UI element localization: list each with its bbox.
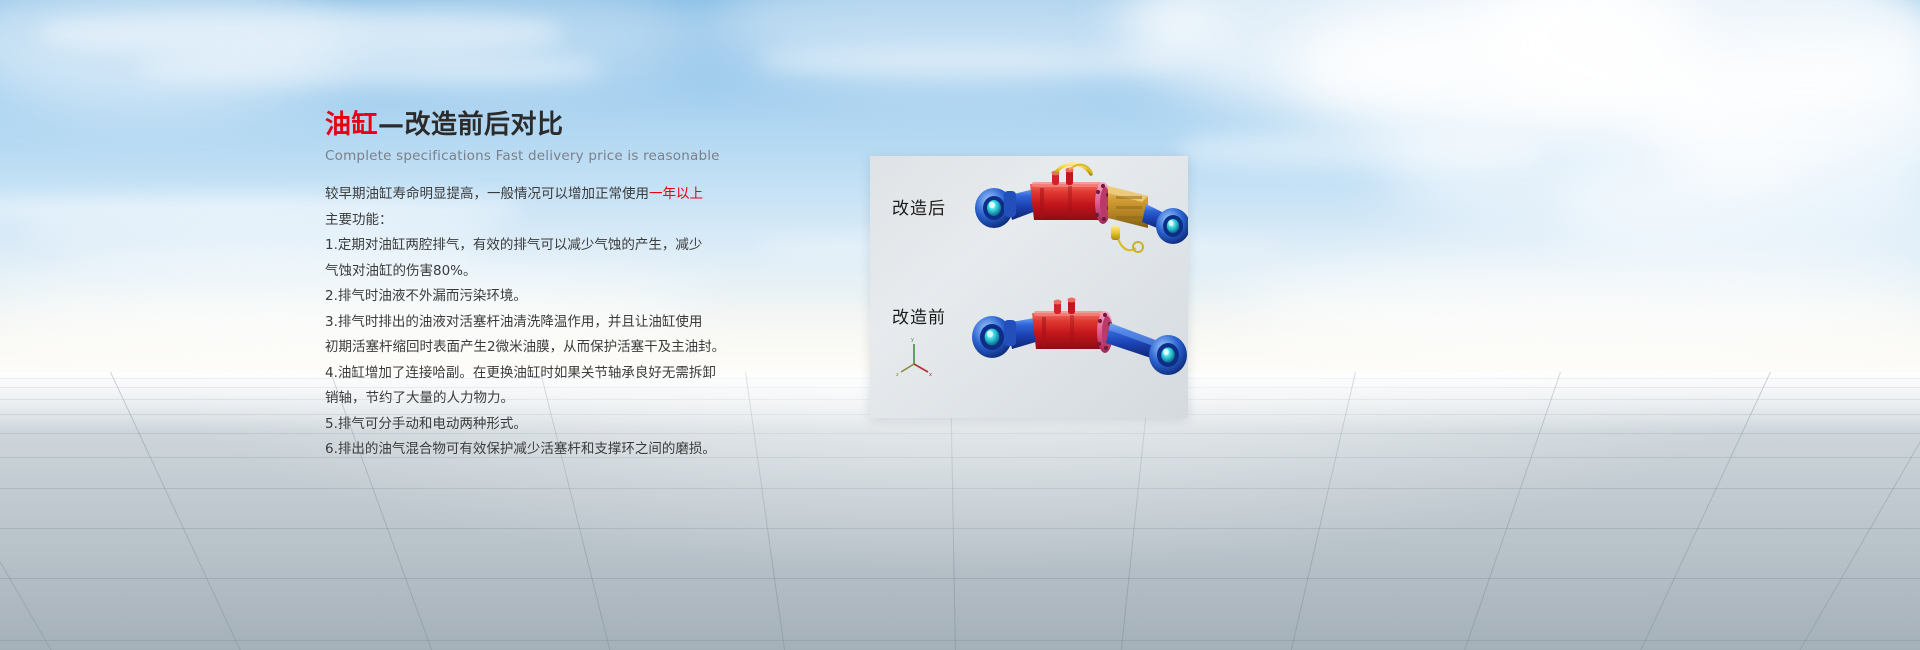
eye-housing-right-before bbox=[1149, 335, 1187, 375]
label-before-modification: 改造前 bbox=[892, 303, 946, 328]
description-line: 初期活塞杆缩回时表面产生2微米油膜，从而保护活塞干及主油封。 bbox=[325, 335, 755, 361]
label-after-modification: 改造后 bbox=[892, 194, 946, 219]
description-line: 较早期油缸寿命明显提高，一般情况可以增加正常使用一年以上 bbox=[325, 182, 755, 208]
cylinder-after bbox=[975, 164, 1188, 252]
description-text: 3.排气时排出的油液对活塞杆油清洗降温作用，并且让油缸使用 bbox=[325, 314, 702, 330]
cylinder-before bbox=[972, 298, 1187, 375]
hero-banner: 油缸—改造前后对比 Complete specifications Fast d… bbox=[0, 0, 1920, 650]
description-text: 6.排出的油气混合物可有效保护减少活塞杆和支撑环之间的磨损。 bbox=[325, 441, 716, 457]
page-title-accent: 油缸 bbox=[325, 110, 378, 140]
page-subtitle: Complete specifications Fast delivery pr… bbox=[325, 148, 755, 164]
description-highlight: 一年以上 bbox=[649, 186, 703, 202]
page-title: 油缸—改造前后对比 bbox=[325, 108, 755, 142]
description-text: 4.油缸增加了连接哈副。在更换油缸时如果关节轴承良好无需拆卸 bbox=[325, 365, 716, 381]
description-line: 5.排气可分手动和电动两种形式。 bbox=[325, 412, 755, 438]
description-line: 气蚀对油缸的伤害80%。 bbox=[325, 259, 755, 285]
svg-text:x: x bbox=[929, 372, 932, 378]
description-text: 较早期油缸寿命明显提高，一般情况可以增加正常使用 bbox=[325, 186, 649, 202]
description-line: 4.油缸增加了连接哈副。在更换油缸时如果关节轴承良好无需拆卸 bbox=[325, 361, 755, 387]
description-text: 1.定期对油缸两腔排气，有效的排气可以减少气蚀的产生，减少 bbox=[325, 237, 702, 253]
page-title-rest: —改造前后对比 bbox=[378, 110, 564, 140]
description-line: 1.定期对油缸两腔排气，有效的排气可以减少气蚀的产生，减少 bbox=[325, 233, 755, 259]
feature-description-list: 较早期油缸寿命明显提高，一般情况可以增加正常使用一年以上 主要功能： 1.定期对… bbox=[325, 182, 755, 463]
description-text: 2.排气时油液不外漏而污染环境。 bbox=[325, 288, 527, 304]
svg-text:y: y bbox=[911, 337, 914, 343]
description-text: 气蚀对油缸的伤害80%。 bbox=[325, 263, 477, 279]
description-line: 6.排出的油气混合物可有效保护减少活塞杆和支撑环之间的磨损。 bbox=[325, 437, 755, 463]
brass-block-after bbox=[1108, 186, 1148, 228]
axis-gizmo-icon: y z x bbox=[896, 337, 932, 378]
description-line: 3.排气时排出的油液对活塞杆油清洗降温作用，并且让油缸使用 bbox=[325, 310, 755, 336]
banner-text-content: 油缸—改造前后对比 Complete specifications Fast d… bbox=[325, 108, 755, 463]
description-text: 初期活塞杆缩回时表面产生2微米油膜，从而保护活塞干及主油封。 bbox=[325, 339, 725, 355]
product-comparison-panel: y z x 改造后 改造前 bbox=[870, 156, 1188, 418]
description-line: 主要功能： bbox=[325, 208, 755, 234]
description-line: 2.排气时油液不外漏而污染环境。 bbox=[325, 284, 755, 310]
description-line: 销轴，节约了大量的人力物力。 bbox=[325, 386, 755, 412]
description-text: 销轴，节约了大量的人力物力。 bbox=[325, 390, 514, 406]
svg-text:z: z bbox=[896, 372, 899, 378]
description-text: 5.排气可分手动和电动两种形式。 bbox=[325, 416, 527, 432]
description-text: 主要功能： bbox=[325, 212, 393, 228]
